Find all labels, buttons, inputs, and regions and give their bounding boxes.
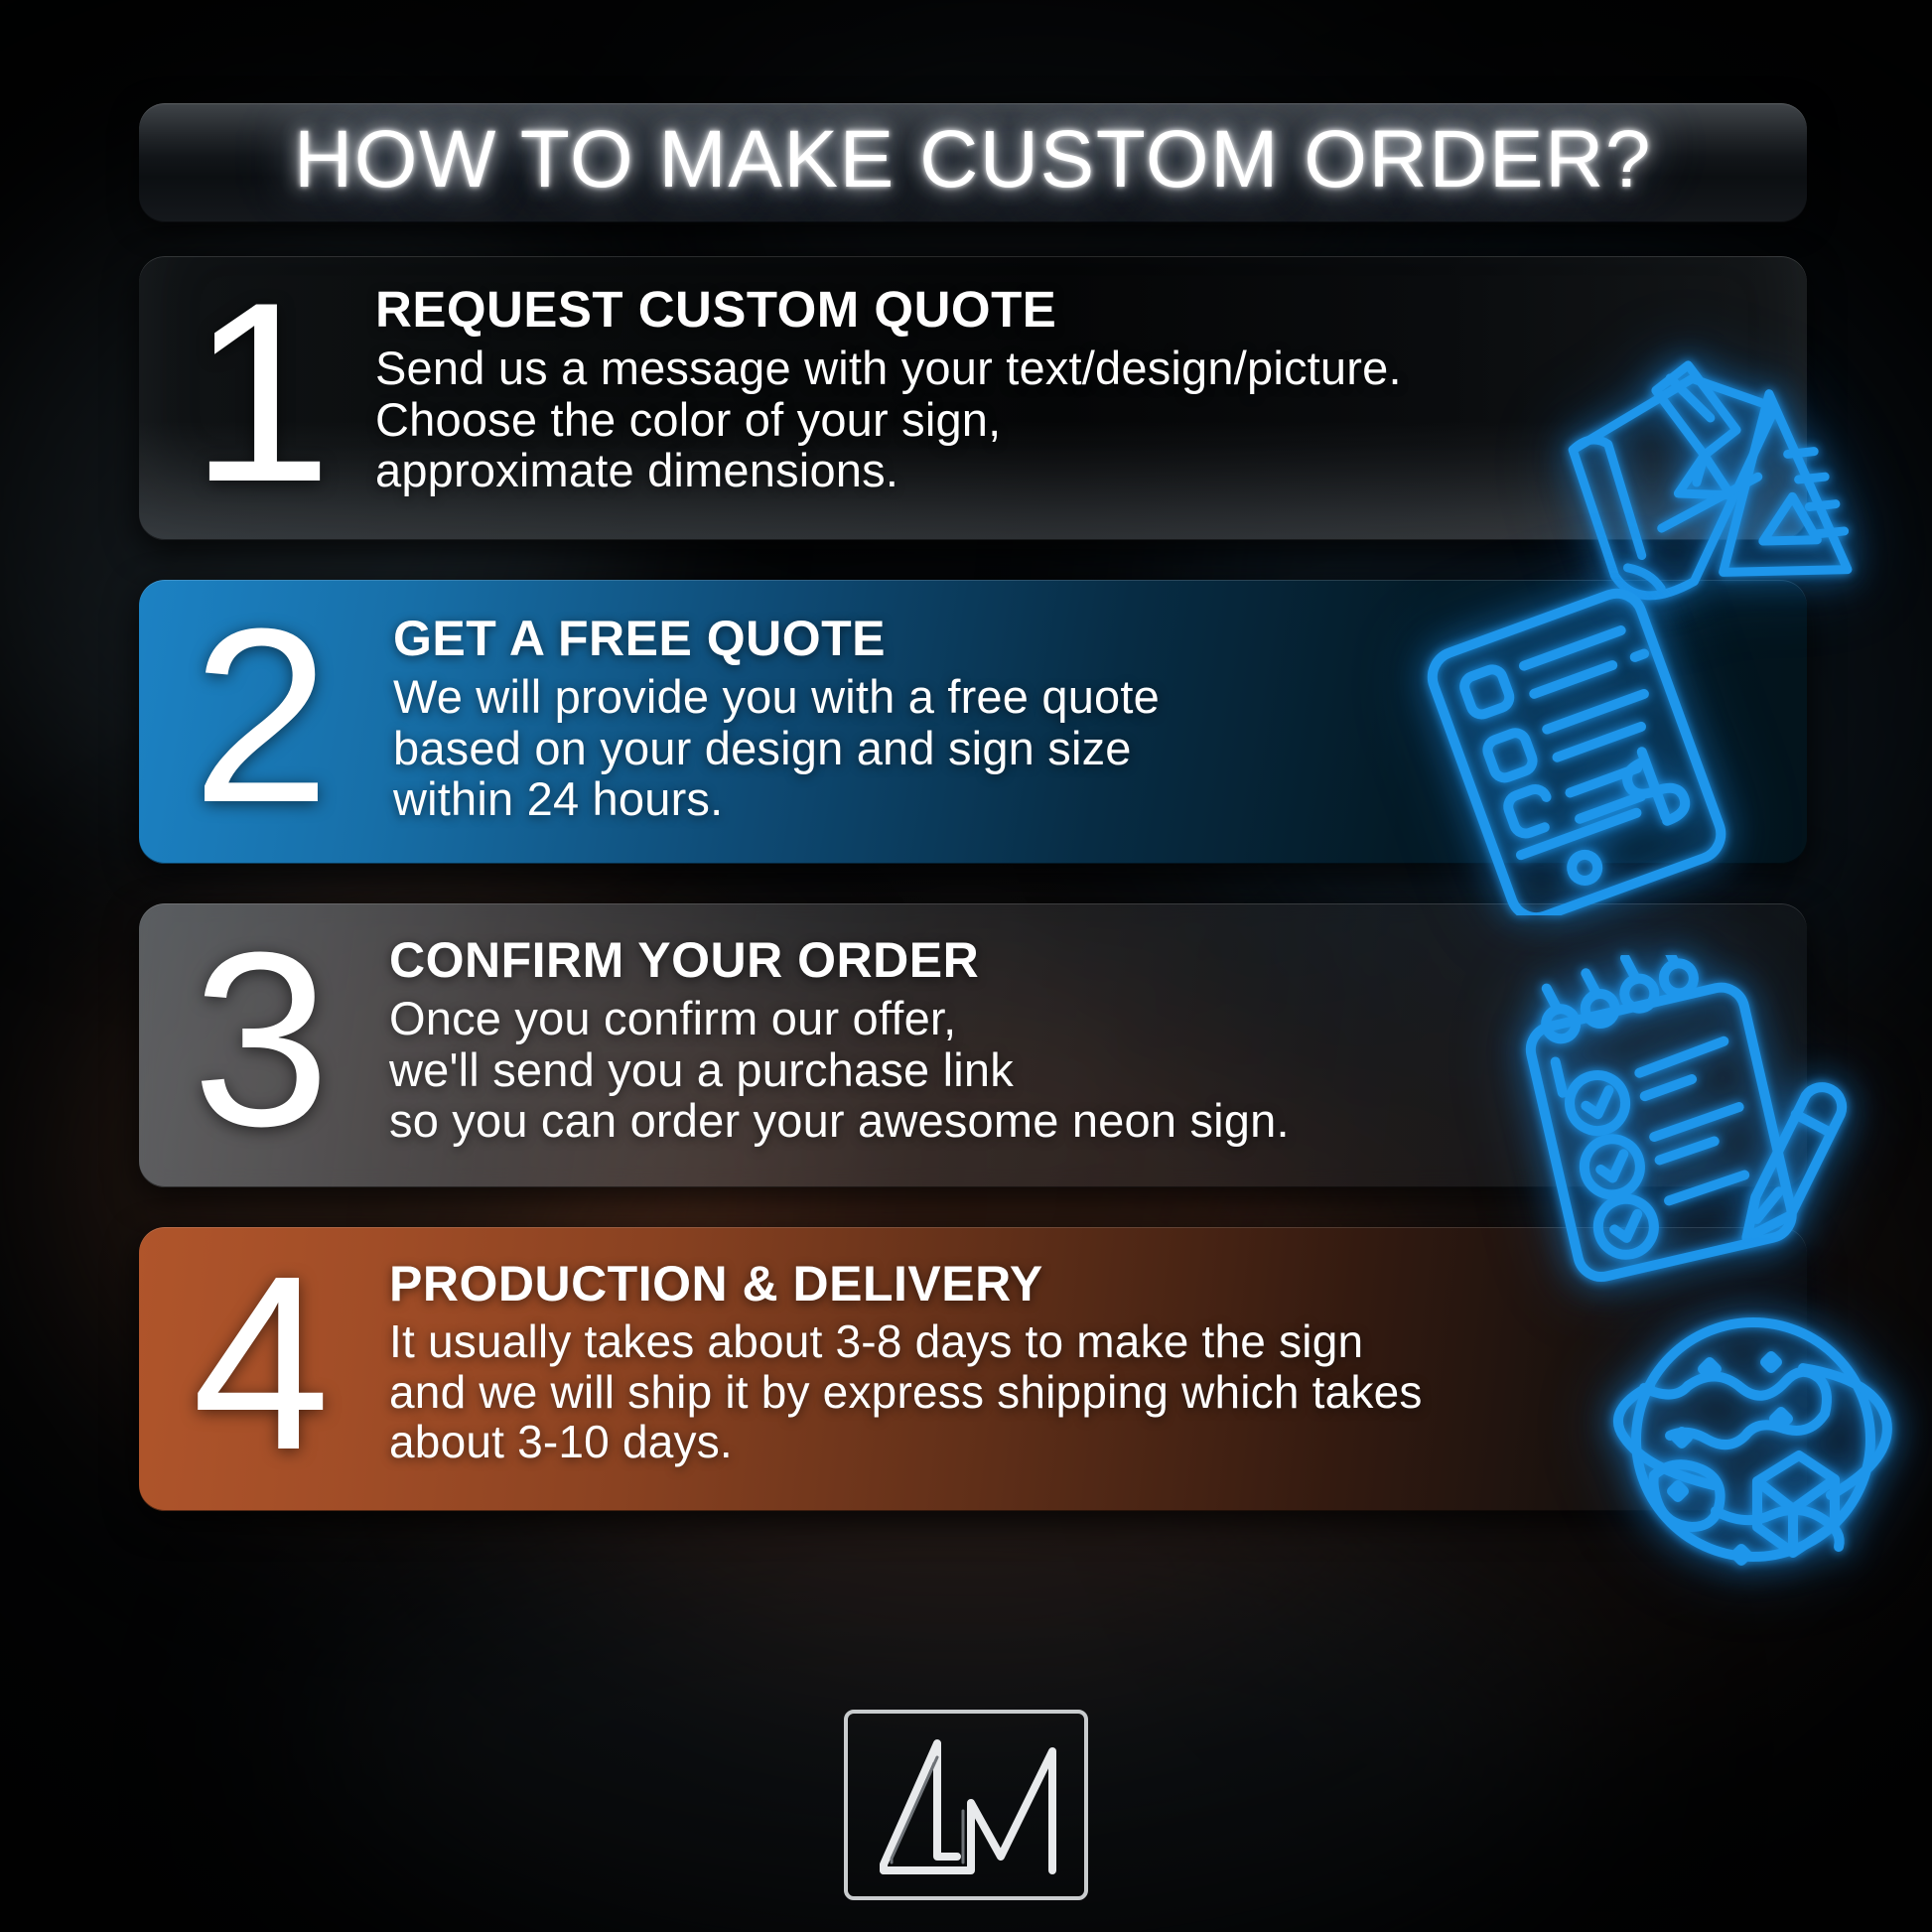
- step-number-1: 1: [147, 256, 375, 534]
- page-title-banner: HOW TO MAKE CUSTOM ORDER?: [139, 103, 1807, 222]
- pencil-blueprint-ruler-icon: [1561, 349, 1859, 627]
- invoice-tablet-dollar-icon: [1418, 588, 1745, 915]
- step-card-1[interactable]: 1 REQUEST CUSTOM QUOTE Send us a message…: [139, 256, 1807, 540]
- step-number-4: 4: [147, 1227, 375, 1505]
- step-line: about 3-10 days.: [389, 1417, 1777, 1467]
- step-line: It usually takes about 3-8 days to make …: [389, 1316, 1777, 1367]
- globe-package-shipping-icon: [1596, 1291, 1904, 1598]
- step-number-2: 2: [147, 580, 375, 858]
- page-title: HOW TO MAKE CUSTOM ORDER?: [139, 113, 1807, 207]
- ln-monogram-logo: [842, 1708, 1090, 1902]
- checklist-notepad-pencil-icon: [1525, 955, 1853, 1283]
- step-number-3: 3: [147, 903, 375, 1181]
- step-heading-1: REQUEST CUSTOM QUOTE: [375, 280, 1777, 339]
- step-line: and we will ship it by express shipping …: [389, 1367, 1777, 1418]
